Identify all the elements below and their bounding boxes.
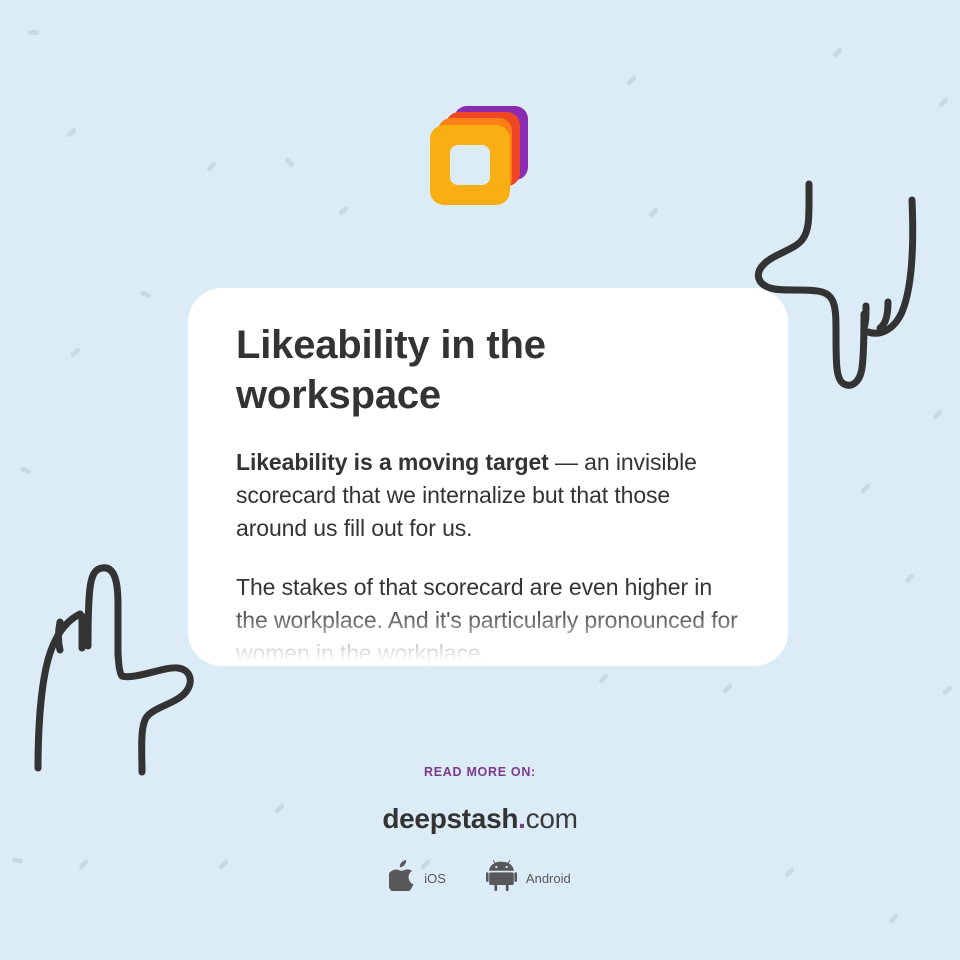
idea-paragraph-2: The stakes of that scorecard are even hi… (236, 571, 740, 666)
idea-paragraph-1-lead: Likeability is a moving target (236, 449, 549, 475)
store-label-ios: iOS (424, 871, 446, 886)
confetti-mark (860, 483, 871, 494)
store-badge-ios[interactable]: iOS (389, 860, 446, 896)
confetti-mark (648, 207, 659, 218)
page-title: Likeability in the workspace (236, 320, 586, 420)
apple-icon (389, 860, 415, 896)
confetti-mark (722, 683, 733, 694)
confetti-mark (832, 47, 843, 58)
idea-paragraph-1: Likeability is a moving target — an invi… (236, 446, 740, 545)
brand-tld: com (526, 803, 578, 834)
confetti-mark (932, 409, 943, 420)
store-badges: iOS Android (0, 860, 960, 896)
store-badge-android[interactable]: Android (486, 860, 571, 896)
logo-layer-amber (430, 125, 510, 205)
idea-card: Likeability in the workspace Likeability… (188, 288, 788, 666)
confetti-mark (284, 157, 295, 168)
brand-dot: . (518, 803, 525, 834)
store-label-android: Android (526, 871, 571, 886)
confetti-mark (70, 347, 81, 358)
android-icon (486, 860, 517, 896)
poster-canvas: Likeability in the workspace Likeability… (0, 0, 960, 960)
confetti-mark (904, 573, 915, 584)
idea-card-content: Likeability in the workspace Likeability… (188, 288, 788, 666)
confetti-mark (598, 673, 609, 684)
brand-name: deepstash (382, 803, 518, 834)
deepstash-logo (424, 98, 528, 204)
confetti-mark (206, 161, 217, 172)
confetti-mark (139, 290, 151, 298)
confetti-mark (938, 97, 949, 108)
brand-wordmark[interactable]: deepstash.com (0, 805, 960, 833)
footer: READ MORE ON: deepstash.com iOS (0, 765, 960, 896)
read-more-label: READ MORE ON: (0, 765, 960, 779)
confetti-mark (338, 205, 349, 216)
confetti-mark (942, 685, 953, 696)
idea-paragraph-2-rest: The stakes of that scorecard are even hi… (236, 574, 738, 666)
confetti-mark (19, 466, 31, 474)
confetti-mark (28, 30, 39, 35)
confetti-mark (66, 127, 78, 138)
confetti-mark (626, 75, 637, 86)
confetti-mark (888, 913, 899, 924)
